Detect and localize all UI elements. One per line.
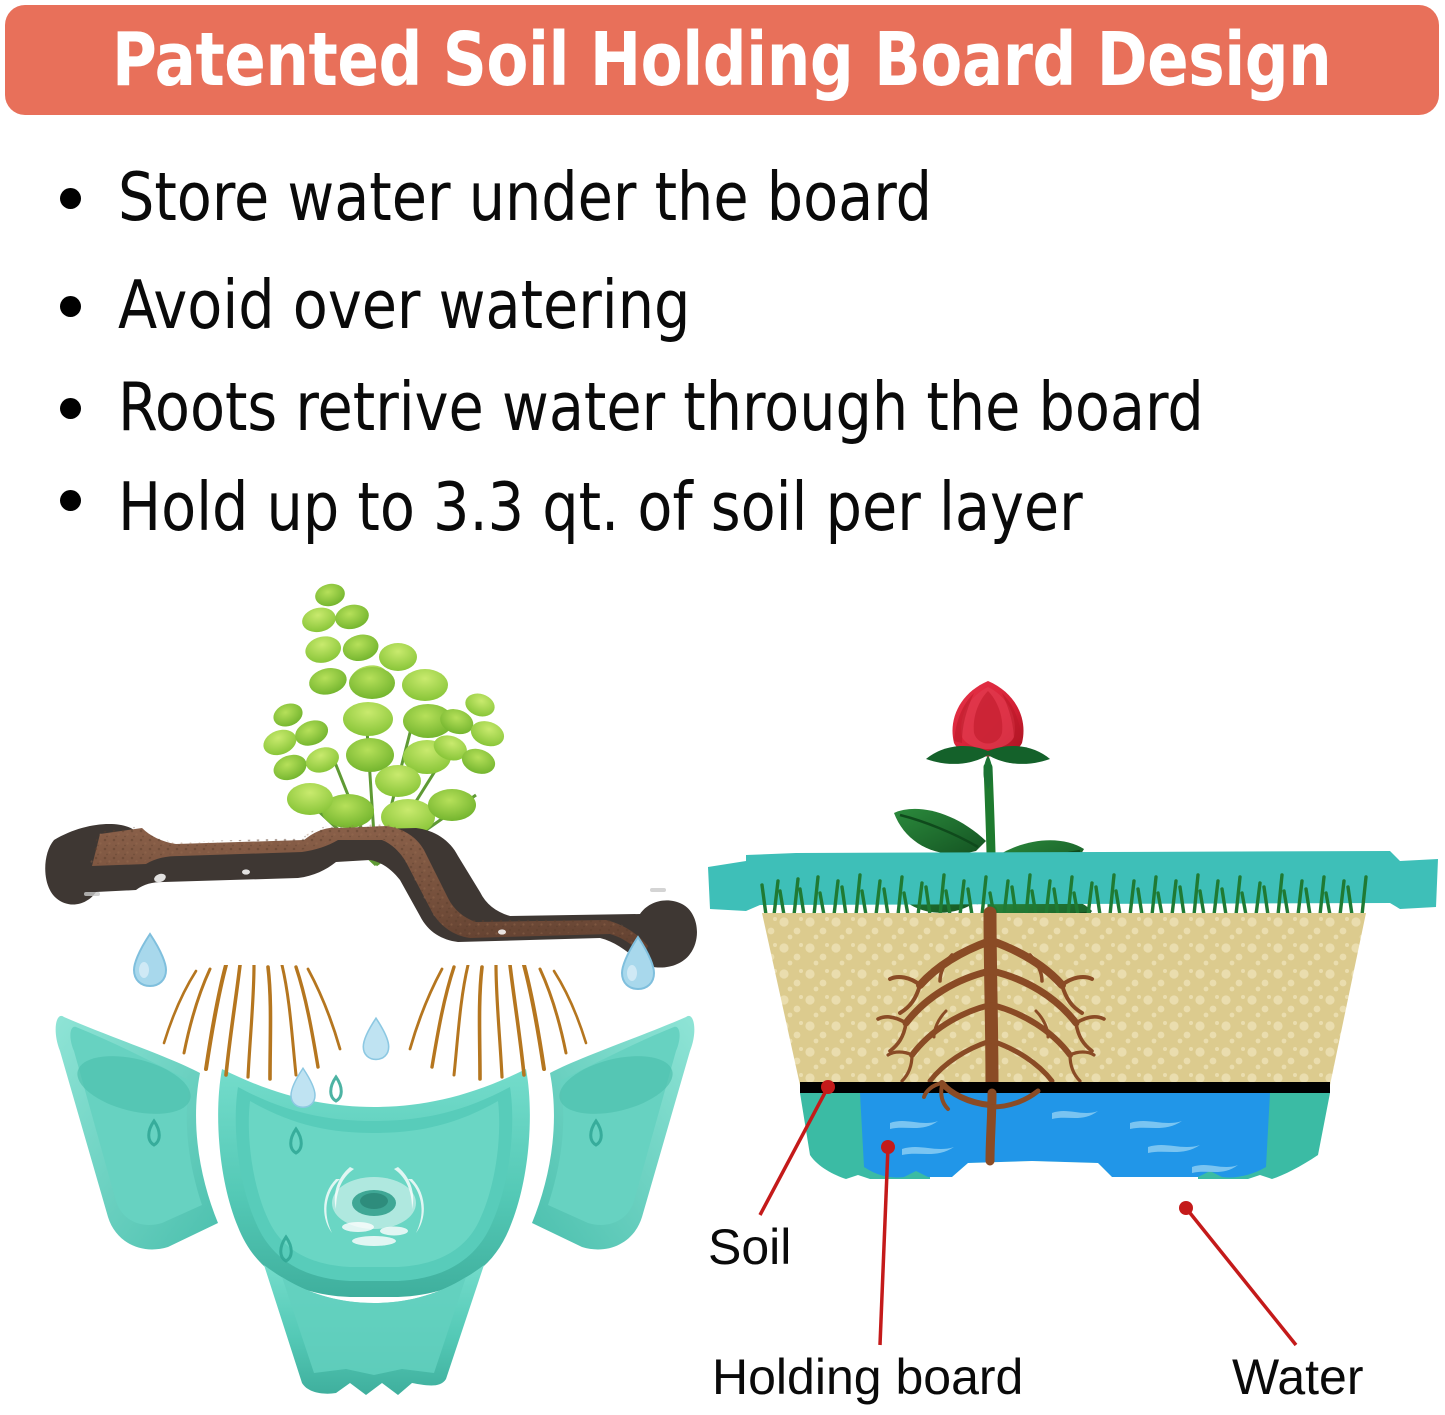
- product-photo-planter: [30, 565, 720, 1395]
- list-item: Avoid over watering: [0, 254, 1445, 358]
- bullet-dot-icon: [60, 296, 81, 317]
- bullet-dot-icon: [60, 188, 81, 209]
- list-item: Roots retrive water through the board: [0, 358, 1445, 462]
- list-item: Store water under the board: [0, 150, 1445, 254]
- water-droplet-icon: [130, 930, 170, 988]
- water-droplet-icon: [288, 1065, 318, 1109]
- bullet-label: Store water under the board: [118, 164, 932, 231]
- label-soil: Soil: [708, 1222, 791, 1272]
- soil-layer: [762, 913, 1366, 1085]
- page-title: Patented Soil Holding Board Design: [112, 23, 1331, 97]
- bullet-label: Hold up to 3.3 qt. of soil per layer: [118, 474, 1083, 541]
- feature-bullet-list: Store water under the board Avoid over w…: [0, 150, 1445, 566]
- water-droplet-icon: [360, 1015, 392, 1061]
- pot-cross-section-illustration: [700, 655, 1445, 1275]
- bullet-label: Roots retrive water through the board: [118, 374, 1204, 441]
- bullet-dot-icon: [60, 490, 81, 511]
- water-droplet-icon: [618, 933, 658, 991]
- bullet-dot-icon: [60, 398, 81, 419]
- infographic-page: Patented Soil Holding Board Design Store…: [0, 0, 1445, 1415]
- label-holding-board: Holding board: [712, 1352, 1023, 1402]
- holding-board-line: [800, 1082, 1330, 1093]
- bullet-label: Avoid over watering: [118, 272, 690, 339]
- list-item: Hold up to 3.3 qt. of soil per layer: [0, 462, 1445, 566]
- header-banner: Patented Soil Holding Board Design: [5, 5, 1439, 115]
- label-water: Water: [1232, 1352, 1364, 1402]
- cross-section-diagram: [700, 655, 1445, 1275]
